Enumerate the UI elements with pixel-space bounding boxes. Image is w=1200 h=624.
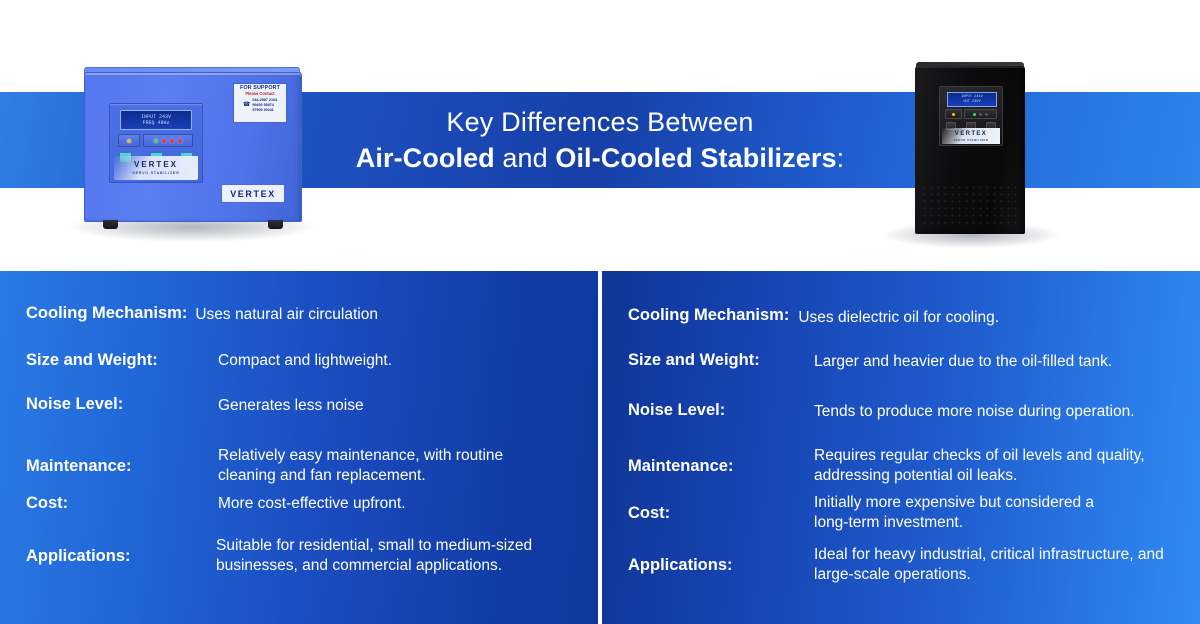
row-label-maintenance: Maintenance:: [628, 457, 814, 477]
table-row: Noise Level: Generates less noise: [26, 395, 582, 415]
table-row: Size and Weight: Larger and heavier due …: [628, 351, 1186, 371]
table-row: Cooling Mechanism: Uses dielectric oil f…: [628, 306, 1186, 326]
comparison-panels: Cooling Mechanism: Uses natural air circ…: [0, 271, 1200, 624]
table-row: Applications: Suitable for residential, …: [26, 536, 582, 577]
headline-and: and: [495, 143, 556, 173]
air-cooled-rows: Cooling Mechanism: Uses natural air circ…: [0, 271, 598, 624]
row-value-applications: Suitable for residential, small to mediu…: [216, 536, 582, 577]
headline-air-cooled: Air-Cooled: [356, 143, 495, 173]
headline-colon: :: [837, 143, 845, 173]
oil-cooled-rows: Cooling Mechanism: Uses dielectric oil f…: [602, 271, 1200, 624]
table-row: Applications: Ideal for heavy industrial…: [628, 545, 1186, 586]
row-label-cost: Cost:: [628, 504, 814, 524]
air-cooled-comparison-panel: Cooling Mechanism: Uses natural air circ…: [0, 271, 598, 624]
infographic-stage: INPUT 243V FREQ 49Hz: [0, 0, 1200, 624]
table-row: Cost: Initially more expensive but consi…: [628, 493, 1186, 534]
row-value-applications: Ideal for heavy industrial, critical inf…: [814, 545, 1172, 586]
row-value-size-and-weight: Compact and lightweight.: [218, 351, 392, 371]
row-value-noise-level: Generates less noise: [218, 396, 364, 416]
headline-line-1: Key Differences Between: [446, 109, 753, 136]
row-value-cooling-mechanism: Uses natural air circulation: [195, 305, 378, 325]
row-label-size-and-weight: Size and Weight:: [26, 351, 218, 371]
table-row: Noise Level: Tends to produce more noise…: [628, 401, 1186, 421]
table-row: Maintenance: Requires regular checks of …: [628, 446, 1186, 487]
row-label-applications: Applications:: [26, 547, 216, 567]
air-unit-foot-left: [103, 220, 118, 229]
row-label-cooling-mechanism: Cooling Mechanism:: [628, 306, 789, 326]
row-value-size-and-weight: Larger and heavier due to the oil-filled…: [814, 352, 1112, 372]
row-value-cost: More cost-effective upfront.: [218, 494, 406, 514]
row-label-size-and-weight: Size and Weight:: [628, 351, 814, 371]
row-value-maintenance: Requires regular checks of oil levels an…: [814, 446, 1174, 487]
oil-unit-vent-grille: [921, 184, 1019, 228]
row-value-maintenance: Relatively easy maintenance, with routin…: [218, 446, 548, 487]
headline-oil-cooled: Oil-Cooled Stabilizers: [555, 143, 836, 173]
row-label-maintenance: Maintenance:: [26, 457, 218, 477]
row-label-cost: Cost:: [26, 494, 218, 514]
row-label-noise-level: Noise Level:: [26, 395, 218, 415]
air-unit-foot-right: [268, 220, 283, 229]
table-row: Size and Weight: Compact and lightweight…: [26, 351, 582, 371]
table-row: Cost: More cost-effective upfront.: [26, 494, 582, 514]
headline-line-2: Air-Cooled and Oil-Cooled Stabilizers:: [356, 145, 844, 172]
row-value-cooling-mechanism: Uses dielectric oil for cooling.: [798, 308, 999, 328]
row-value-noise-level: Tends to produce more noise during opera…: [814, 402, 1135, 422]
table-row: Maintenance: Relatively easy maintenance…: [26, 446, 582, 487]
row-value-cost: Initially more expensive but considered …: [814, 493, 1124, 534]
table-row: Cooling Mechanism: Uses natural air circ…: [26, 304, 582, 324]
banner-headline: Key Differences Between Air-Cooled and O…: [0, 92, 1200, 188]
row-label-applications: Applications:: [628, 556, 814, 576]
row-label-noise-level: Noise Level:: [628, 401, 814, 421]
row-label-cooling-mechanism: Cooling Mechanism:: [26, 304, 187, 324]
oil-cooled-comparison-panel: Cooling Mechanism: Uses dielectric oil f…: [602, 271, 1200, 624]
